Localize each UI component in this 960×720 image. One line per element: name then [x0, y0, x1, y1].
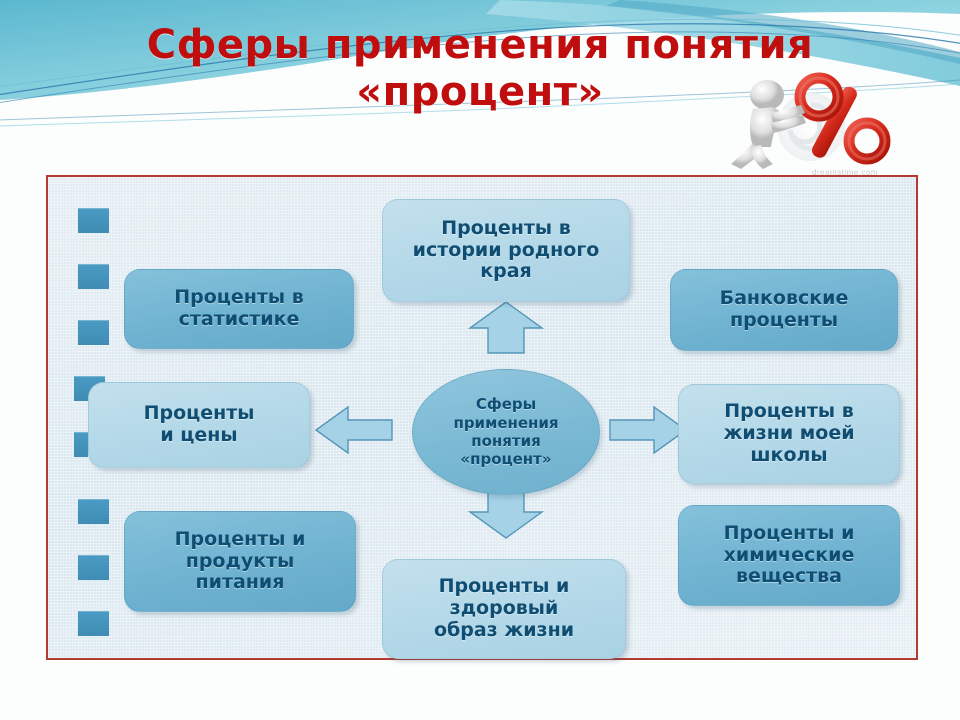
percent-clipart: dreamstime.com — [715, 65, 910, 175]
node-bank[interactable]: Банковские проценты — [670, 269, 898, 351]
bullet-square — [78, 264, 109, 289]
bullet-square — [78, 499, 109, 524]
bullet-square — [78, 555, 109, 580]
arrow-left-icon — [314, 405, 394, 455]
diagram-center-node[interactable]: Сферы применения понятия «процент» — [412, 369, 600, 495]
node-statistics[interactable]: Проценты в статистике — [124, 269, 354, 349]
bullet-square — [78, 208, 109, 233]
bullet-square — [78, 611, 109, 636]
node-school[interactable]: Проценты в жизни моей школы — [678, 384, 900, 484]
diagram-frame: Проценты в истории родного края Проценты… — [46, 175, 918, 660]
arrow-up-icon — [466, 300, 546, 355]
bullet-square — [74, 432, 88, 457]
node-history[interactable]: Проценты в истории родного края — [382, 199, 630, 302]
arrow-right-icon — [608, 405, 688, 455]
node-food[interactable]: Проценты и продукты питания — [124, 511, 356, 612]
slide-canvas: Сферы применения понятия «процент» — [0, 0, 960, 720]
node-prices[interactable]: Проценты и цены — [88, 382, 310, 468]
node-chemistry[interactable]: Проценты и химические вещества — [678, 505, 900, 606]
node-health[interactable]: Проценты и здоровый образ жизни — [382, 559, 626, 659]
bullet-square — [78, 320, 109, 345]
